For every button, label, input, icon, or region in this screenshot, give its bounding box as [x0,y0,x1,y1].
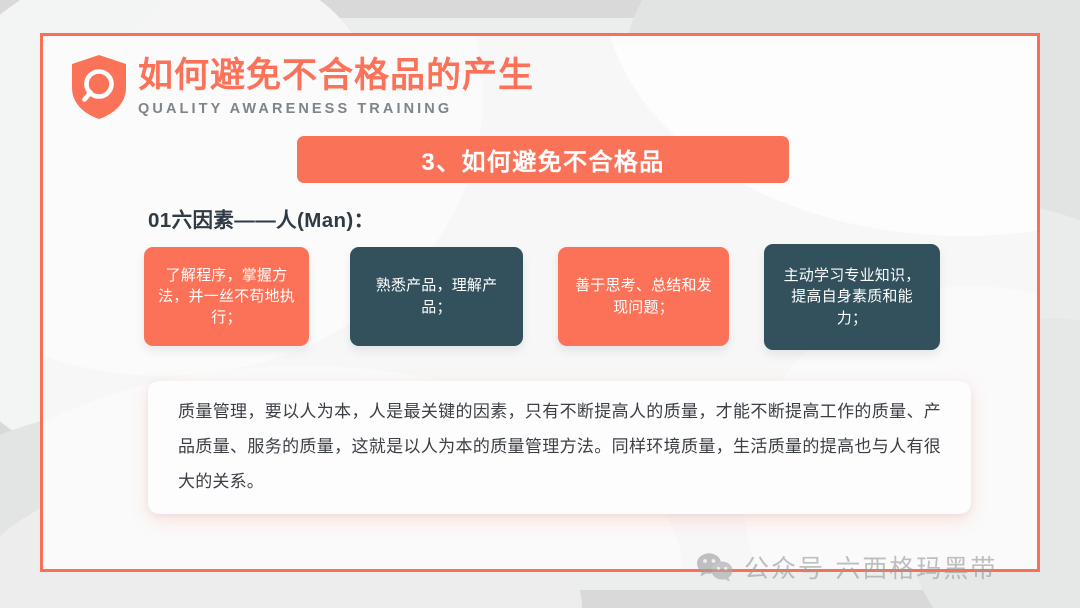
factor-card: 了解程序，掌握方法，并一丝不苟地执行； [144,247,309,346]
shield-magnifier-icon [70,54,128,120]
header-text-block: 如何避免不合格品的产生 QUALITY AWARENESS TRAINING [138,57,534,117]
slide-header: 如何避免不合格品的产生 QUALITY AWARENESS TRAINING [70,54,534,120]
factor-card: 熟悉产品，理解产品； [350,247,523,346]
section-banner-label: 3、如何避免不合格品 [421,142,664,177]
factor-card-text: 熟悉产品，理解产品； [363,275,510,318]
section-subhead: 01六因素——人(Man)： [148,203,375,233]
section-banner: 3、如何避免不合格品 [297,136,789,183]
slide-canvas: 如何避免不合格品的产生 QUALITY AWARENESS TRAINING 3… [0,0,1080,608]
wechat-icon [696,552,734,582]
body-paragraph: 质量管理，要以人为本，人是最关键的因素，只有不断提高人的质量，才能不断提高工作的… [148,395,971,500]
page-subtitle: QUALITY AWARENESS TRAINING [138,101,534,117]
body-text-box: 质量管理，要以人为本，人是最关键的因素，只有不断提高人的质量，才能不断提高工作的… [148,381,971,514]
factor-card: 主动学习专业知识，提高自身素质和能力； [764,244,940,350]
slide-frame: 如何避免不合格品的产生 QUALITY AWARENESS TRAINING 3… [40,33,1040,572]
factor-card: 善于思考、总结和发现问题； [558,247,729,346]
footer-watermark: 公众号·六西格玛黑带 [696,549,997,585]
factor-card-text: 善于思考、总结和发现问题； [571,275,716,318]
factor-card-text: 了解程序，掌握方法，并一丝不苟地执行； [157,265,296,329]
factor-card-text: 主动学习专业知识，提高自身素质和能力； [777,265,927,329]
footer-label: 公众号·六西格玛黑带 [744,549,997,585]
page-title: 如何避免不合格品的产生 [138,57,534,94]
factor-card-row: 了解程序，掌握方法，并一丝不苟地执行； 熟悉产品，理解产品； 善于思考、总结和发… [144,244,954,362]
